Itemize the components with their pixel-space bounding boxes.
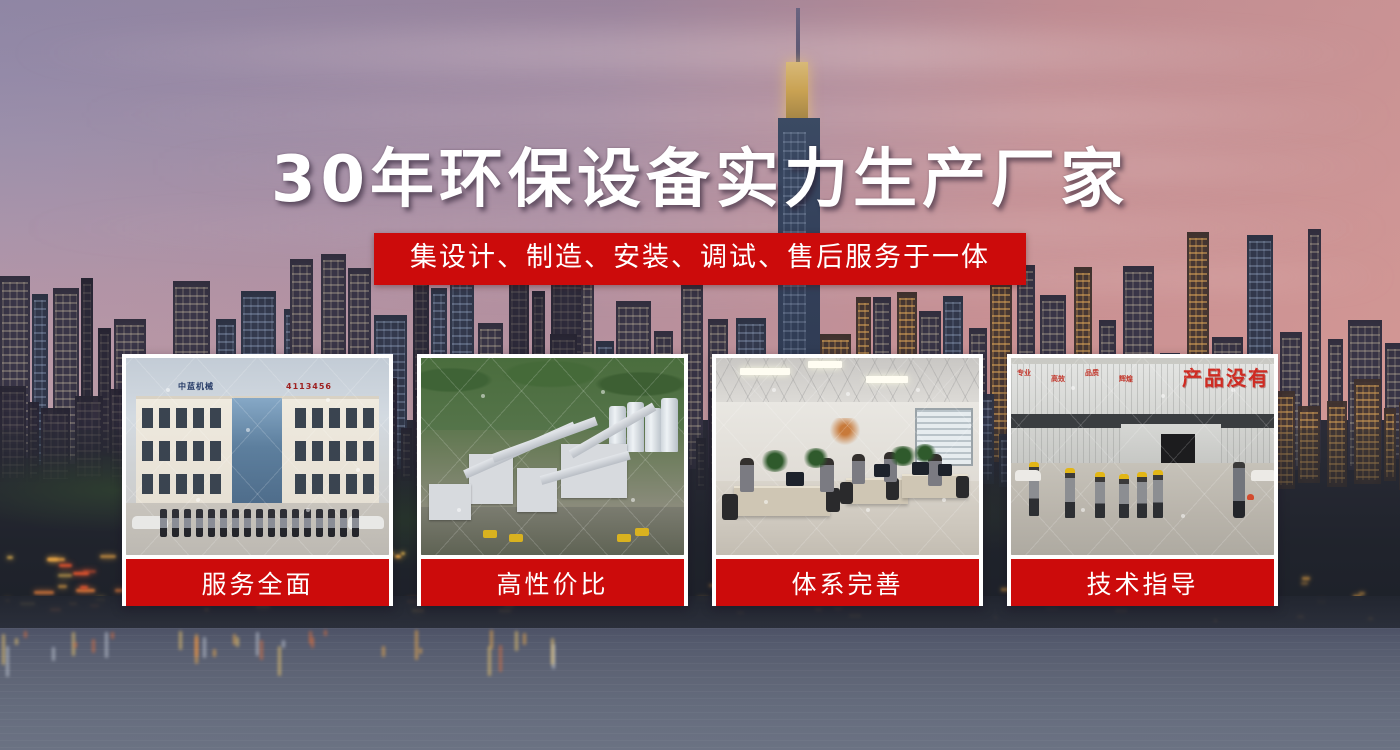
water-reflection — [2, 634, 5, 665]
watermark-dot — [481, 394, 485, 398]
building-window — [295, 441, 306, 461]
water-reflection — [488, 646, 491, 676]
staff-person — [340, 509, 347, 537]
water-reflection — [15, 638, 18, 645]
water-reflection — [260, 640, 263, 660]
water-reflection — [382, 646, 385, 657]
building-glass-atrium — [232, 398, 282, 506]
staff-person — [268, 509, 275, 537]
riverside-light — [7, 556, 13, 559]
staff-person — [292, 509, 299, 537]
watermark-dot — [246, 428, 250, 432]
promo-banner: 30年环保设备实力生产厂家 集设计、制造、安装、调试、售后服务于一体 中蓝机械 … — [0, 0, 1400, 750]
watermark-dot — [772, 388, 776, 392]
company-headquarters-photo: 中蓝机械 4113456 — [126, 358, 389, 555]
construction-machine — [509, 534, 523, 542]
watermark-dot — [764, 500, 768, 504]
watermark-dot — [1071, 386, 1075, 390]
water-reflection — [195, 637, 198, 657]
water-reflection — [203, 637, 206, 658]
page-title: 30年环保设备实力生产厂家 — [0, 128, 1400, 220]
water-reflection — [256, 632, 259, 656]
watermark-dot — [866, 508, 870, 512]
watermark-dot — [942, 498, 946, 502]
building-window — [312, 408, 323, 428]
staff-person — [196, 509, 203, 537]
water-reflection — [324, 630, 327, 636]
water-reflection — [490, 630, 493, 649]
building-window — [312, 474, 323, 494]
feature-card-caption: 体系完善 — [716, 559, 979, 606]
office-chair — [956, 476, 969, 498]
staff-person — [232, 509, 239, 537]
feature-card[interactable]: 中蓝机械 4113456 服务全面 — [122, 354, 393, 606]
staff-person — [352, 509, 359, 537]
factory-wall-text: 产品没有 — [1182, 362, 1270, 391]
building-window — [159, 441, 170, 461]
worker-person — [1095, 472, 1105, 518]
production-plant-aerial-photo — [421, 358, 684, 555]
worker-person — [1153, 470, 1163, 518]
office-ceiling — [716, 358, 979, 406]
office-plant — [802, 448, 830, 468]
building-signage-label: 中蓝机械 — [178, 381, 214, 392]
water-reflection — [6, 646, 9, 677]
ceiling-light — [866, 376, 908, 383]
river-water — [0, 628, 1400, 750]
watermark-dot — [457, 508, 461, 512]
water-reflection — [515, 631, 518, 651]
feature-card-caption: 高性价比 — [421, 559, 684, 606]
parked-car — [1015, 470, 1041, 481]
watermark-dot — [1231, 388, 1235, 392]
water-reflection — [74, 642, 77, 648]
staff-person — [220, 509, 227, 537]
staff-person — [304, 509, 311, 537]
worker-person — [1137, 472, 1147, 518]
riverside-light — [1359, 592, 1365, 595]
red-safety-helmet — [1247, 494, 1254, 500]
building-window — [193, 408, 204, 428]
computer-monitor — [912, 462, 929, 475]
building-window — [329, 441, 340, 461]
riverside-light — [59, 564, 72, 567]
building-window — [176, 408, 187, 428]
riverside-light — [80, 586, 88, 589]
office-plant — [760, 450, 790, 472]
office-worker — [740, 458, 754, 492]
water-reflection — [52, 647, 55, 661]
plant-structure — [429, 484, 471, 520]
office-worker — [852, 454, 865, 484]
ceiling-light — [808, 361, 842, 368]
water-reflection — [309, 631, 312, 644]
feature-card[interactable]: 产品没有 专业高效品质辉煌 技术指导 — [1007, 354, 1278, 606]
building-phone-label: 4113456 — [286, 382, 332, 391]
parked-car — [1251, 470, 1274, 481]
workshop-training-photo: 产品没有 专业高效品质辉煌 — [1011, 358, 1274, 555]
wall-decal — [828, 418, 862, 448]
building-window — [363, 474, 374, 494]
riverside-light — [58, 585, 67, 588]
feature-card[interactable]: 体系完善 — [712, 354, 983, 606]
building-window — [159, 408, 170, 428]
water-reflection — [415, 630, 418, 660]
riverside-light — [1302, 577, 1310, 580]
building-window — [363, 408, 374, 428]
water-reflection — [236, 637, 239, 647]
water-reflection — [552, 644, 555, 669]
factory-wall-slogan: 高效 — [1051, 376, 1065, 384]
worker-person — [1119, 474, 1129, 518]
water-reflection — [213, 649, 216, 657]
building-window — [159, 474, 170, 494]
building-window — [329, 408, 340, 428]
feature-card-caption: 技术指导 — [1011, 559, 1274, 606]
office-plant — [912, 444, 938, 462]
riverside-light — [73, 572, 89, 575]
staff-person — [208, 509, 215, 537]
riverside-light — [34, 591, 54, 594]
building-window — [193, 474, 204, 494]
office-chair — [722, 494, 738, 520]
watermark-dot — [326, 398, 330, 402]
watermark-dot — [306, 508, 310, 512]
watermark-dot — [1181, 514, 1185, 518]
watermark-dot — [631, 498, 635, 502]
watermark-dot — [356, 468, 360, 472]
building-window — [329, 474, 340, 494]
water-reflection — [233, 634, 236, 645]
factory-wall-slogan: 辉煌 — [1119, 376, 1133, 384]
riverside-light — [76, 589, 95, 592]
building-window — [346, 408, 357, 428]
riverside-light — [58, 574, 72, 577]
feature-card-caption: 服务全面 — [126, 559, 389, 606]
water-reflection — [499, 645, 502, 672]
construction-machine — [617, 534, 631, 542]
watermark-dot — [196, 498, 200, 502]
staff-person — [184, 509, 191, 537]
water-reflection — [523, 633, 526, 645]
building-window — [176, 474, 187, 494]
watermark-dot — [1081, 508, 1085, 512]
factory-wall-slogan: 专业 — [1017, 370, 1031, 378]
watermark-dot — [166, 388, 170, 392]
staff-person — [328, 509, 335, 537]
staff-person — [244, 509, 251, 537]
construction-machine — [483, 530, 497, 538]
building-window — [210, 408, 221, 428]
staff-person — [172, 509, 179, 537]
building-window — [142, 441, 153, 461]
water-reflection — [278, 646, 281, 676]
water-reflection — [179, 631, 182, 650]
building-window — [210, 474, 221, 494]
water-reflection — [105, 632, 108, 658]
building-window — [142, 474, 153, 494]
subtitle-row: 集设计、制造、安装、调试、售后服务于一体 — [0, 233, 1400, 285]
riverside-light — [100, 555, 116, 558]
instructor-person — [1233, 462, 1245, 518]
water-reflection — [195, 634, 198, 664]
building-window — [312, 441, 323, 461]
building-window — [193, 441, 204, 461]
riverside-light — [48, 558, 58, 561]
computer-monitor — [874, 464, 890, 477]
building-window — [142, 408, 153, 428]
building-window — [363, 441, 374, 461]
cement-silo — [661, 398, 678, 452]
water-reflection — [311, 637, 314, 648]
staff-person — [280, 509, 287, 537]
feature-card[interactable]: 高性价比 — [417, 354, 688, 606]
building-window — [295, 474, 306, 494]
water-reflection — [24, 631, 27, 638]
office-interior-photo — [716, 358, 979, 555]
construction-machine — [635, 528, 649, 536]
water-reflection — [111, 632, 114, 639]
building-window — [176, 441, 187, 461]
staff-person — [256, 509, 263, 537]
staff-person — [316, 509, 323, 537]
watermark-dot — [601, 390, 605, 394]
ceiling-light — [740, 368, 790, 375]
feature-card-row: 中蓝机械 4113456 服务全面 高性价比 — [122, 354, 1278, 606]
worker-person — [1065, 468, 1075, 518]
watermark-dot — [1161, 394, 1165, 398]
building-window — [210, 441, 221, 461]
water-reflection — [92, 639, 95, 653]
watermark-dot — [846, 392, 850, 396]
riverside-light — [1301, 582, 1308, 585]
subtitle-badge: 集设计、制造、安装、调试、售后服务于一体 — [374, 233, 1026, 285]
office-chair — [840, 482, 853, 504]
building-window — [346, 474, 357, 494]
water-reflection — [551, 638, 554, 665]
building-window — [346, 441, 357, 461]
computer-monitor — [938, 464, 952, 476]
staff-person — [160, 509, 167, 537]
watermark-dot — [916, 388, 920, 392]
factory-wall-slogan: 品质 — [1085, 370, 1099, 378]
water-reflection — [419, 648, 422, 654]
water-reflection — [282, 640, 285, 648]
building-window — [295, 408, 306, 428]
computer-monitor — [786, 472, 804, 486]
water-reflection — [72, 632, 75, 656]
